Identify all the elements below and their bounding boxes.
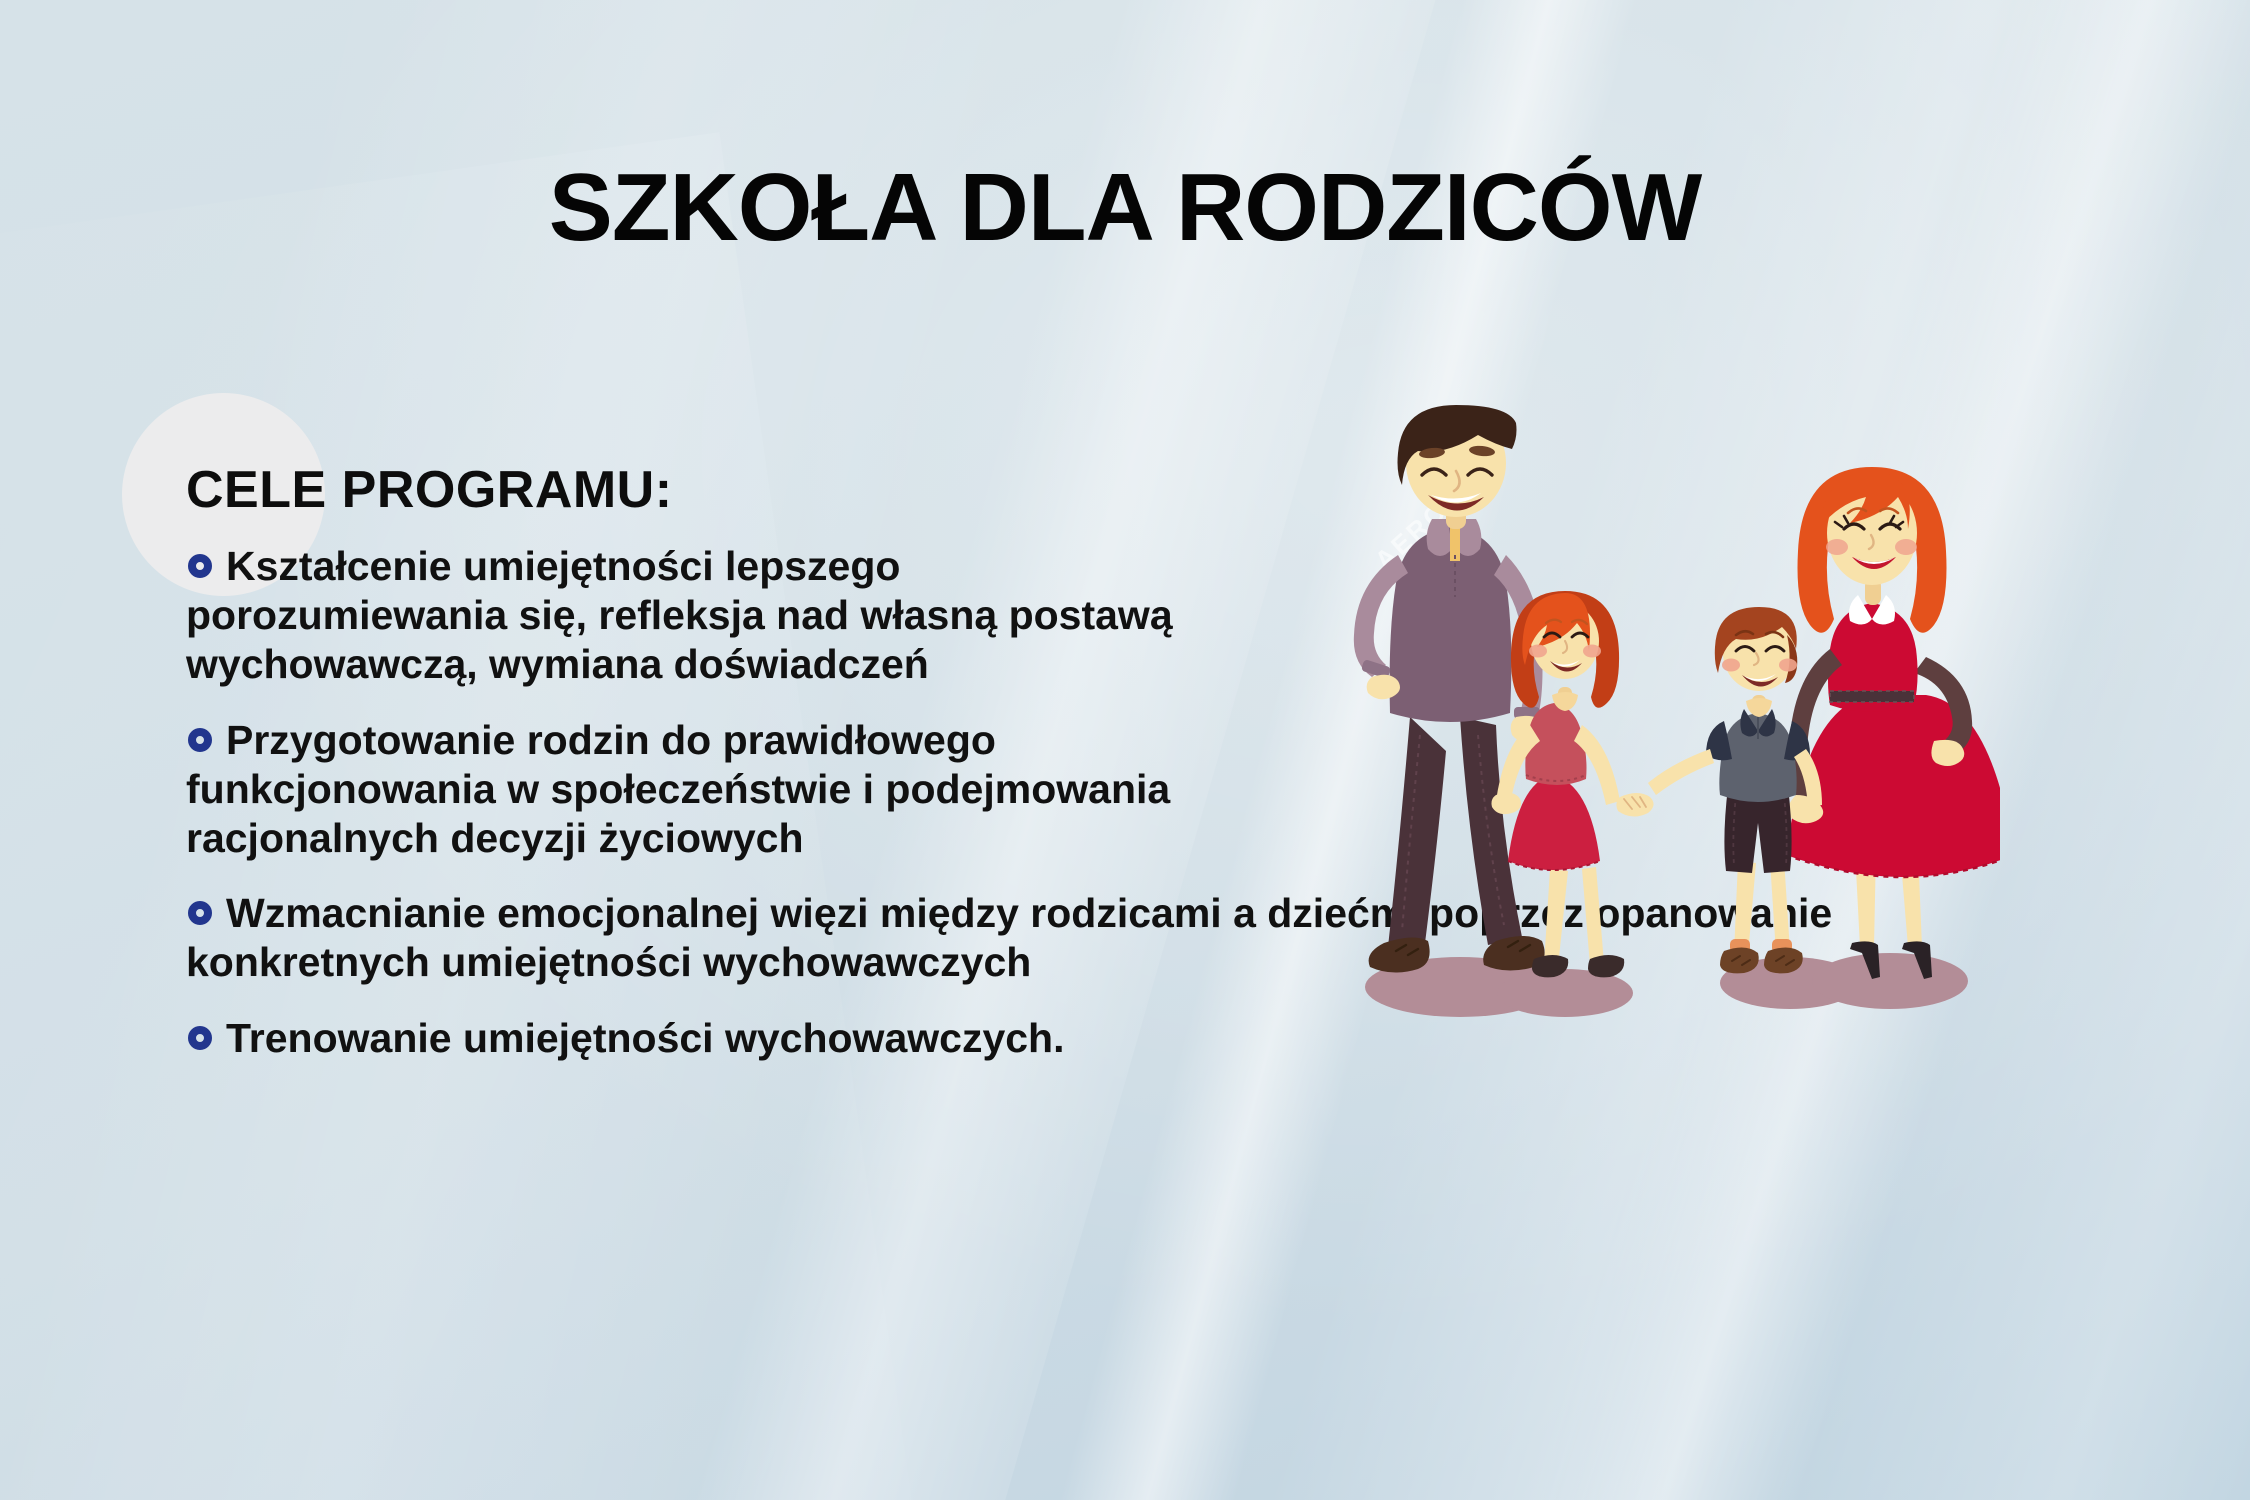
- list-item-text: Przygotowanie rodzin do prawidłowego fun…: [186, 717, 1170, 861]
- list-item-text: Kształcenie umiejętności lepszego porozu…: [186, 543, 1173, 687]
- list-item: Przygotowanie rodzin do prawidłowego fun…: [186, 716, 1206, 864]
- list-item: Kształcenie umiejętności lepszego porozu…: [186, 542, 1206, 690]
- bullet-ring-icon: [188, 728, 212, 752]
- family-illustration: [1300, 395, 2000, 1035]
- bullet-ring-icon: [188, 901, 212, 925]
- bullet-ring-icon: [188, 1026, 212, 1050]
- mother-figure: [1786, 467, 2000, 979]
- list-item-text: Trenowanie umiejętności wychowawczych.: [226, 1015, 1064, 1061]
- held-hands: [1616, 793, 1653, 817]
- son-figure: [1648, 607, 1822, 973]
- bullet-ring-icon: [188, 554, 212, 578]
- page-title: SZKOŁA DLA RODZICÓW: [0, 160, 2250, 256]
- slide-canvas: SZKOŁA DLA RODZICÓW CELE PROGRAMU: Kszta…: [0, 0, 2250, 1500]
